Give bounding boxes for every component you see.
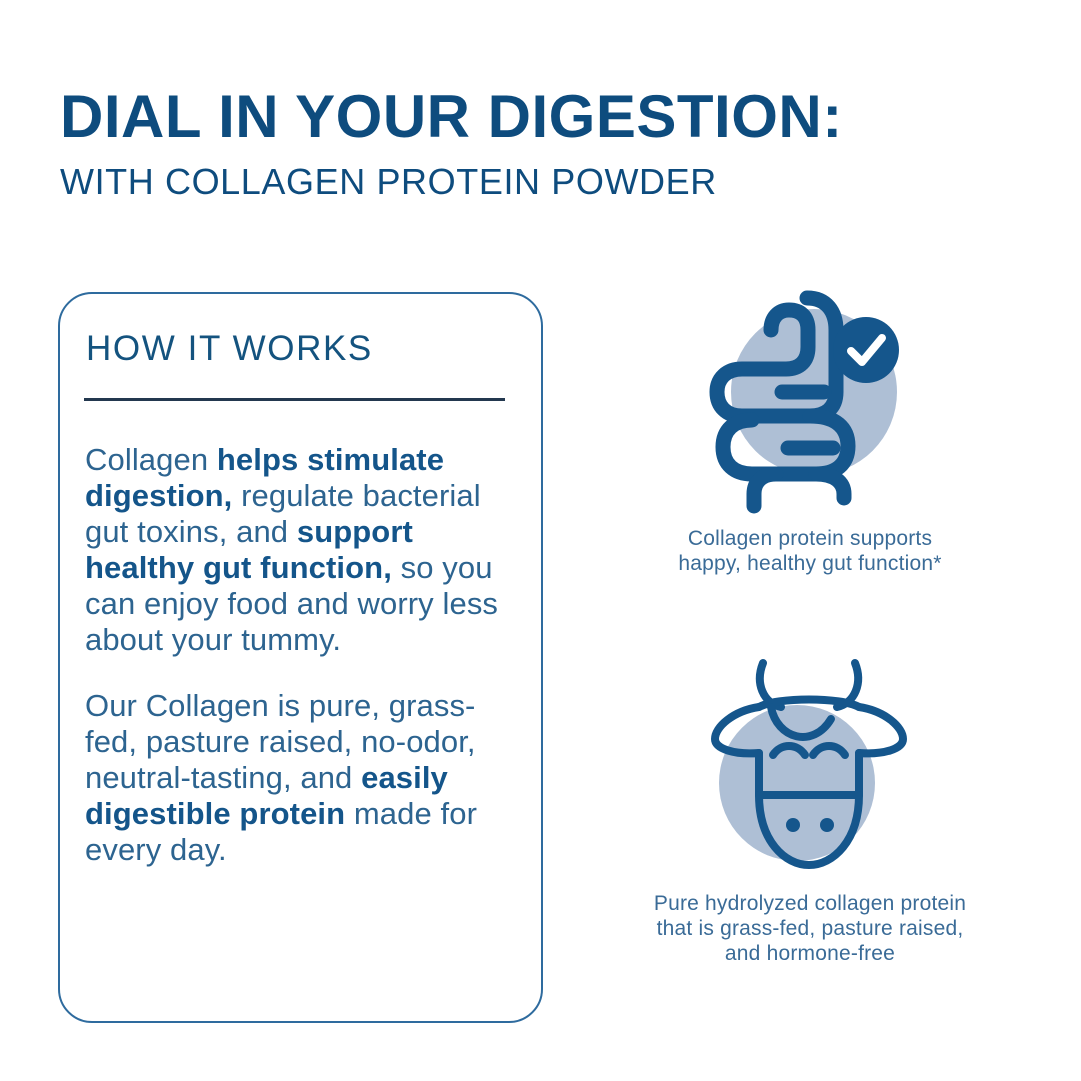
caption-line: happy, healthy gut function* bbox=[560, 551, 1060, 576]
cow-face-icon bbox=[685, 635, 935, 885]
caption-line: that is grass-fed, pasture raised, bbox=[560, 916, 1060, 941]
infographic-page: DIAL IN YOUR DIGESTION: WITH COLLAGEN PR… bbox=[0, 0, 1081, 1081]
header: DIAL IN YOUR DIGESTION: WITH COLLAGEN PR… bbox=[60, 86, 1020, 202]
card-body: Collagen helps stimulate digestion, regu… bbox=[85, 442, 525, 868]
how-it-works-card: HOW IT WORKS Collagen helps stimulate di… bbox=[58, 292, 543, 1023]
feature-cow-caption: Pure hydrolyzed collagen protein that is… bbox=[560, 891, 1060, 966]
nostril-right bbox=[820, 818, 834, 832]
caption-line: Collagen protein supports bbox=[560, 526, 1060, 551]
caption-line: and hormone-free bbox=[560, 941, 1060, 966]
caption-line: Pure hydrolyzed collagen protein bbox=[560, 891, 1060, 916]
page-title: DIAL IN YOUR DIGESTION: bbox=[60, 86, 1020, 148]
intestine-check-icon bbox=[690, 280, 930, 520]
card-heading: HOW IT WORKS bbox=[86, 330, 373, 368]
feature-gut: Collagen protein supports happy, healthy… bbox=[560, 280, 1060, 576]
card-divider bbox=[84, 398, 505, 401]
paragraph-2: Our Collagen is pure, grass-fed, pasture… bbox=[85, 688, 525, 868]
nostril-left bbox=[786, 818, 800, 832]
body-text: Collagen bbox=[85, 442, 217, 477]
feature-gut-caption: Collagen protein supports happy, healthy… bbox=[560, 526, 1060, 576]
paragraph-1: Collagen helps stimulate digestion, regu… bbox=[85, 442, 525, 658]
page-subtitle: WITH COLLAGEN PROTEIN POWDER bbox=[60, 162, 1020, 202]
check-badge-circle bbox=[833, 317, 899, 383]
feature-cow: Pure hydrolyzed collagen protein that is… bbox=[560, 635, 1060, 966]
